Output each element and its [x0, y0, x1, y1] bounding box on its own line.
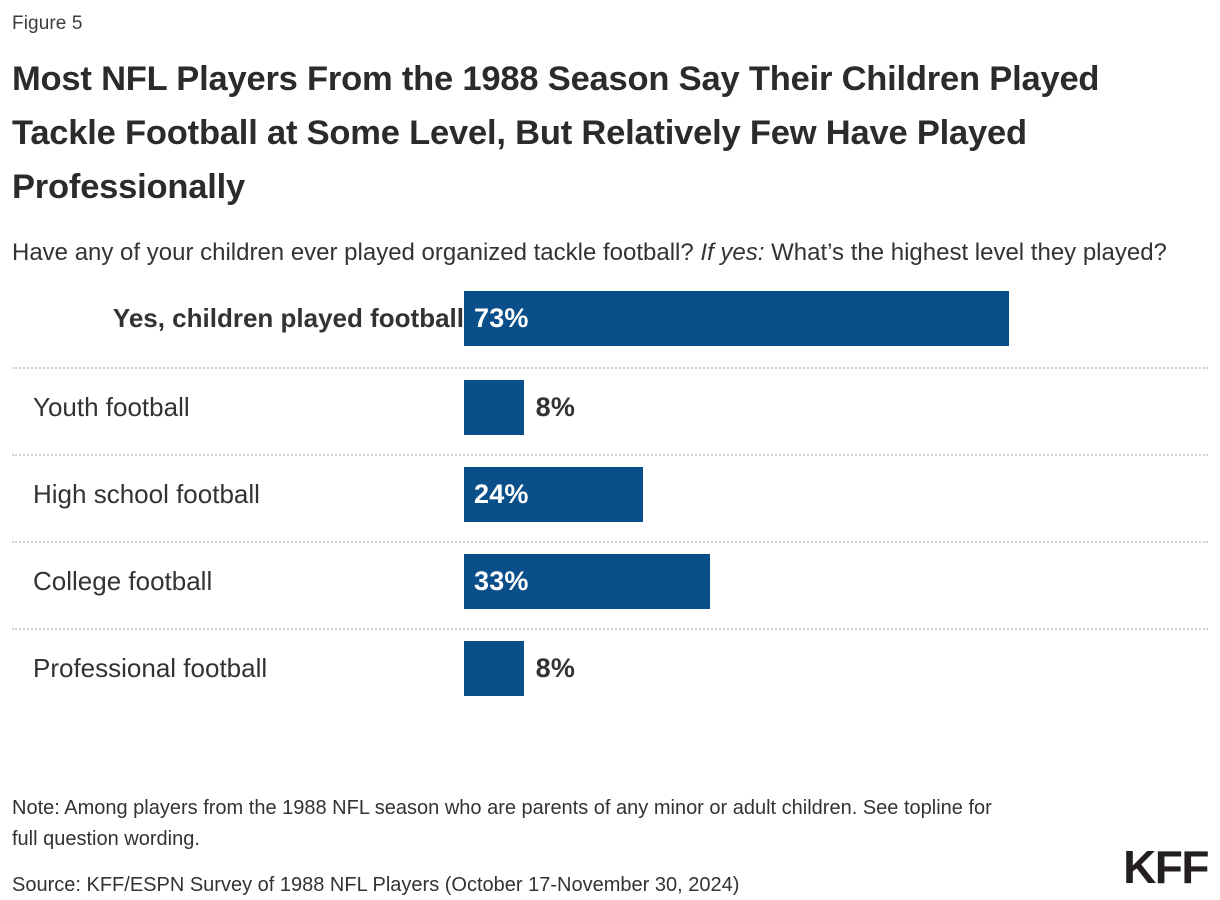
bar-category-label: Youth football: [12, 380, 473, 435]
bar-track: 33%: [464, 554, 1210, 609]
bar-track: 73%: [464, 291, 1210, 346]
bar: 24%: [464, 467, 643, 522]
bar: [464, 641, 524, 696]
chart-row: High school football24%: [12, 467, 1208, 543]
figure-footer: Note: Among players from the 1988 NFL se…: [12, 793, 1208, 900]
bar-value-label: 8%: [536, 641, 575, 696]
row-separator: [12, 541, 1208, 543]
bar-category-label: Yes, children played football: [12, 291, 473, 346]
bar: 33%: [464, 554, 710, 609]
chart-row-inner: High school football24%: [12, 467, 1208, 522]
figure-subtitle: Have any of your children ever played or…: [12, 234, 1202, 272]
row-separator: [12, 367, 1208, 369]
source-text: Source: KFF/ESPN Survey of 1988 NFL Play…: [12, 870, 1208, 900]
chart-row-inner: Yes, children played football73%: [12, 291, 1208, 346]
bar-value-label: 24%: [464, 479, 529, 510]
bar-track: 8%: [464, 380, 1210, 435]
subtitle-part-2: What’s the highest level they played?: [764, 239, 1166, 266]
kff-logo: KFF: [1123, 844, 1208, 890]
figure-number: Figure 5: [12, 0, 1208, 36]
bar-value-label: 73%: [464, 303, 529, 334]
bar-category-label: Professional football: [12, 641, 473, 696]
row-separator: [12, 454, 1208, 456]
chart-row: Youth football8%: [12, 380, 1208, 456]
bar-category-label: High school football: [12, 467, 473, 522]
chart-row-inner: College football33%: [12, 554, 1208, 609]
chart-row-inner: Youth football8%: [12, 380, 1208, 435]
subtitle-emphasis: If yes:: [700, 239, 764, 266]
chart-row-inner: Professional football8%: [12, 641, 1208, 696]
note-text: Note: Among players from the 1988 NFL se…: [12, 793, 1012, 854]
bar: 73%: [464, 291, 1009, 346]
bar-chart: Yes, children played football73%Youth fo…: [12, 291, 1208, 717]
bar-track: 8%: [464, 641, 1210, 696]
page-title: Most NFL Players From the 1988 Season Sa…: [12, 52, 1172, 214]
subtitle-part-1: Have any of your children ever played or…: [12, 239, 700, 266]
row-separator: [12, 628, 1208, 630]
figure-container: Figure 5 Most NFL Players From the 1988 …: [0, 0, 1220, 900]
bar: [464, 380, 524, 435]
bar-value-label: 8%: [536, 380, 575, 435]
chart-row: Yes, children played football73%: [12, 291, 1208, 369]
bar-value-label: 33%: [464, 566, 529, 597]
bar-track: 24%: [464, 467, 1210, 522]
chart-row: Professional football8%: [12, 641, 1208, 717]
chart-row: College football33%: [12, 554, 1208, 630]
bar-category-label: College football: [12, 554, 473, 609]
